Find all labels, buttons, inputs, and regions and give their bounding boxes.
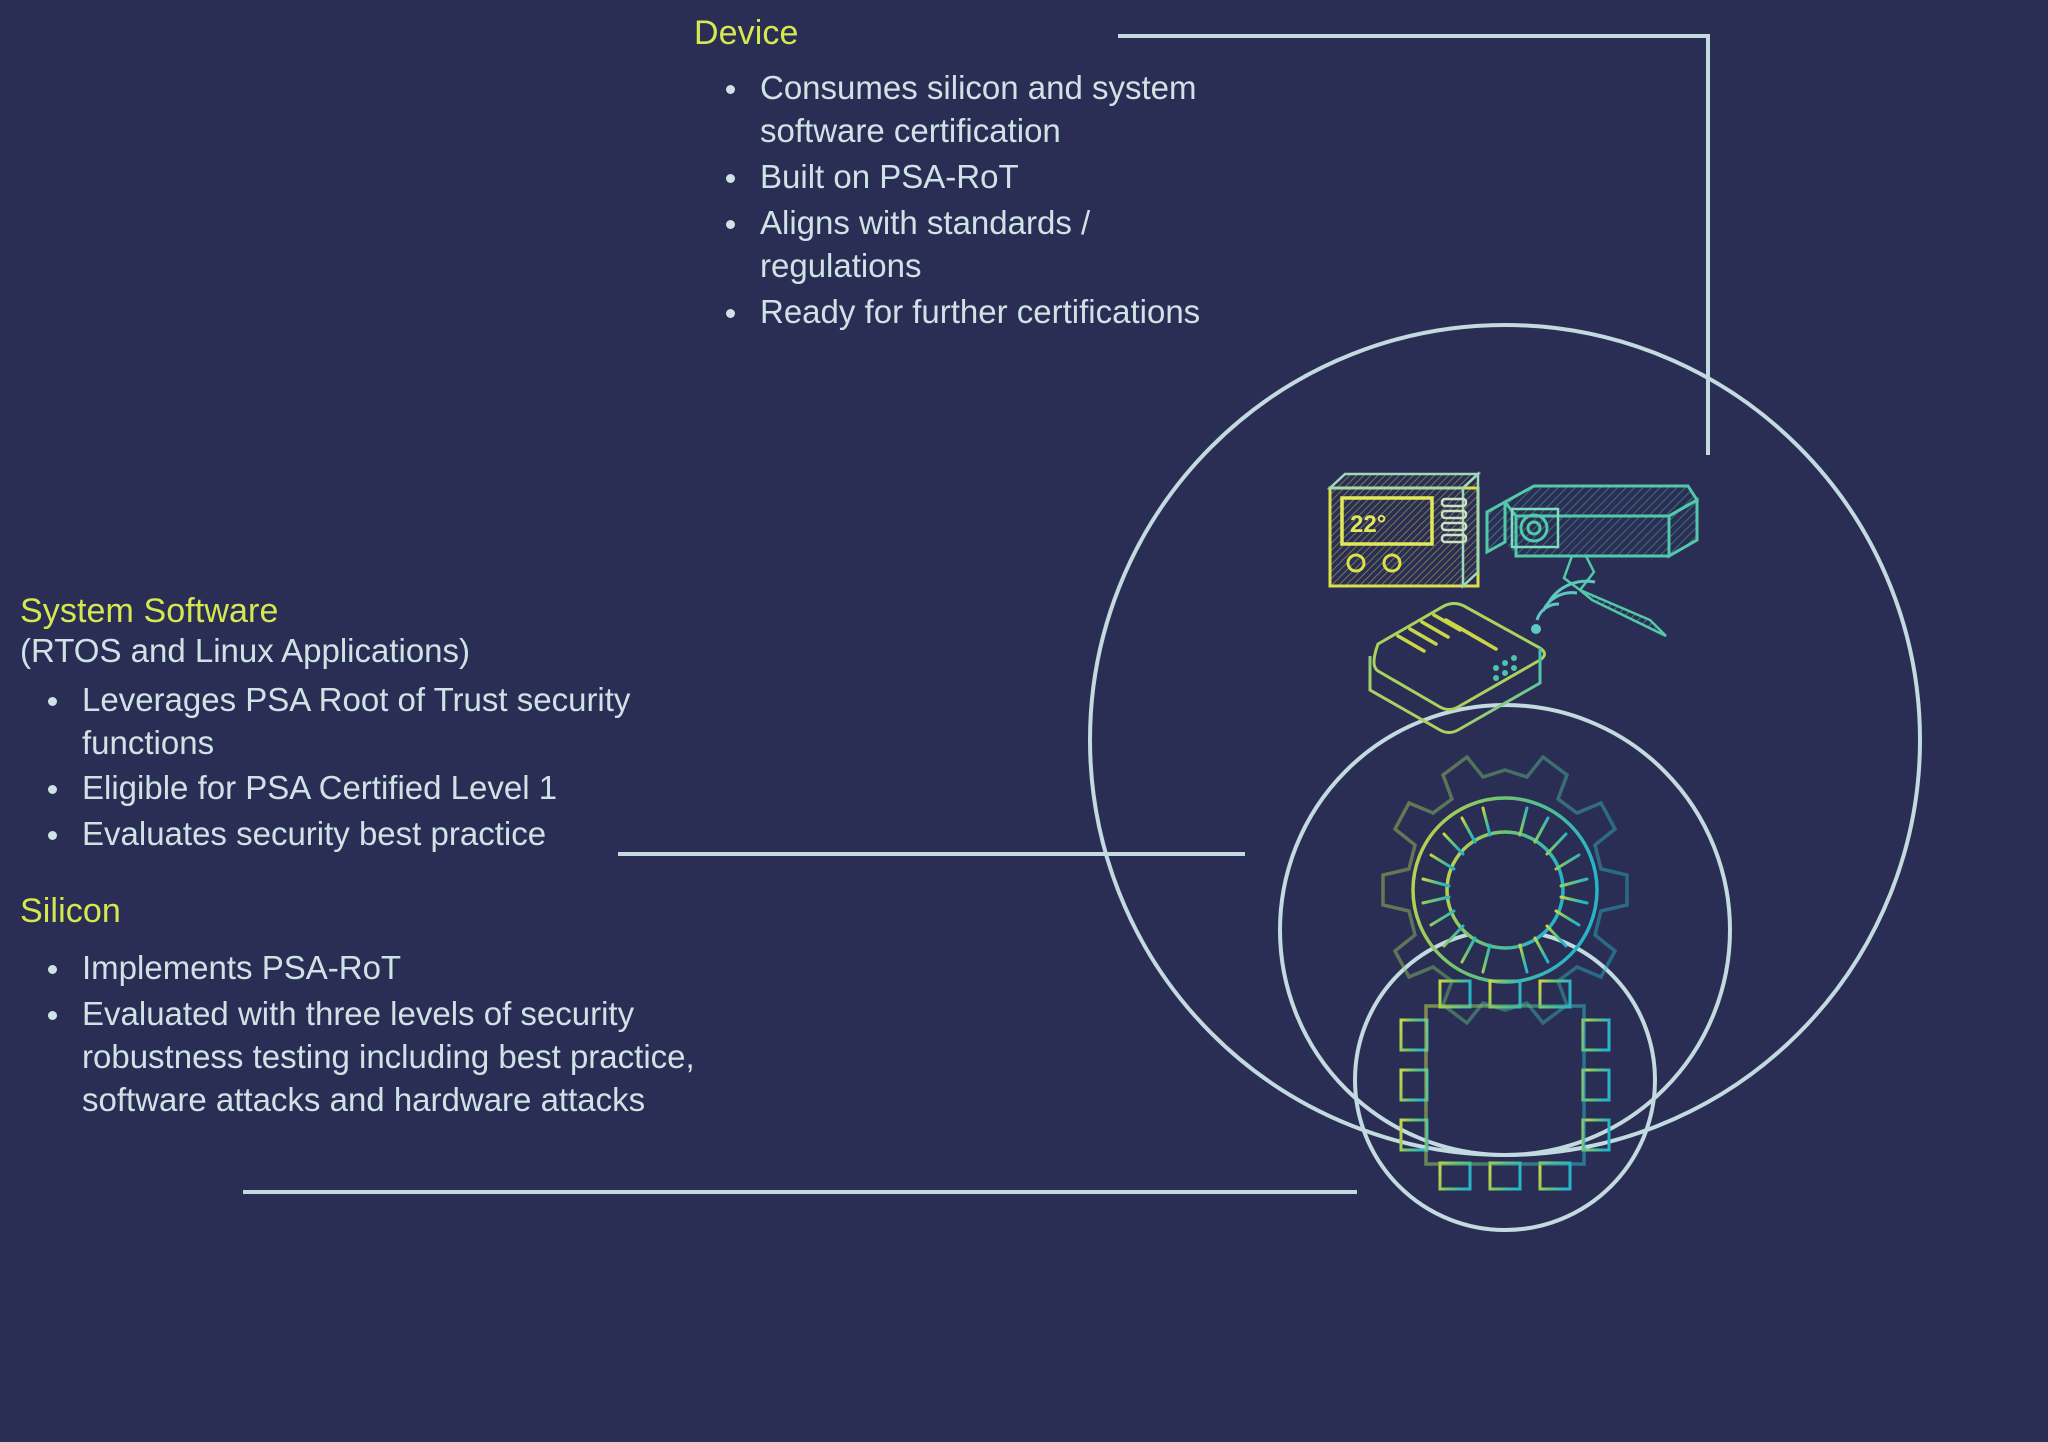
- device-bullet-1: Consumes silicon and system software cer…: [694, 67, 1214, 153]
- device-bullet-4: Ready for further certifications: [694, 291, 1214, 334]
- silicon-bullet-1: Implements PSA-RoT: [20, 947, 720, 990]
- system-software-bullet-2: Eligible for PSA Certified Level 1: [20, 767, 720, 810]
- device-section: Device Consumes silicon and system softw…: [694, 14, 1214, 336]
- system-software-bullet-3: Evaluates security best practice: [20, 813, 720, 856]
- system-software-heading: System Software: [20, 592, 720, 631]
- device-bullet-2: Built on PSA-RoT: [694, 156, 1214, 199]
- device-bullet-list: Consumes silicon and system software cer…: [694, 67, 1214, 333]
- silicon-bullet-list: Implements PSA-RoT Evaluated with three …: [20, 947, 720, 1122]
- system-software-bullet-1: Leverages PSA Root of Trust security fun…: [20, 679, 720, 765]
- silicon-bullet-2: Evaluated with three levels of security …: [20, 993, 720, 1122]
- diagram-canvas: 22°: [0, 0, 2048, 1442]
- system-software-subheading: (RTOS and Linux Applications): [20, 631, 720, 671]
- silicon-heading: Silicon: [20, 892, 720, 931]
- device-bullet-3: Aligns with standards / regulations: [694, 202, 1214, 288]
- silicon-section: Silicon Implements PSA-RoT Evaluated wit…: [20, 892, 720, 1125]
- device-heading: Device: [694, 14, 1214, 53]
- system-software-section: System Software (RTOS and Linux Applicat…: [20, 592, 720, 859]
- system-software-bullet-list: Leverages PSA Root of Trust security fun…: [20, 679, 720, 857]
